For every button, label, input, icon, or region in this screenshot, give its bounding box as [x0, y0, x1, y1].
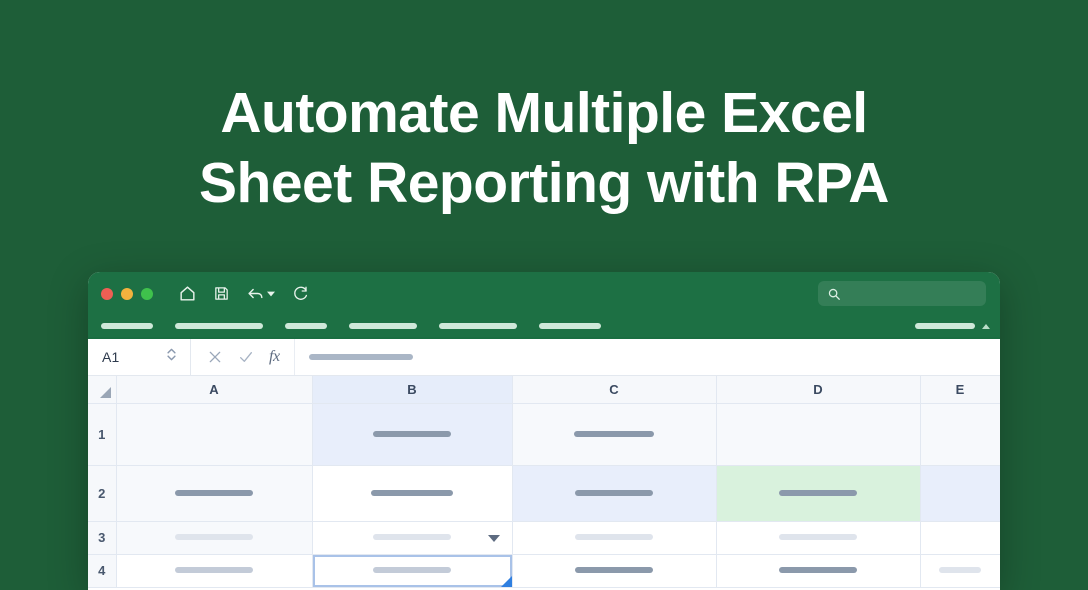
- cell-b1[interactable]: [312, 403, 512, 465]
- spreadsheet-window: A1 fx: [88, 272, 1000, 590]
- window-titlebar: [88, 272, 1000, 315]
- dropdown-caret-icon[interactable]: [488, 535, 500, 542]
- cell-a1[interactable]: [116, 403, 312, 465]
- function-icon[interactable]: fx: [269, 348, 280, 366]
- row-header-3[interactable]: 3: [88, 521, 116, 554]
- fill-handle[interactable]: [501, 576, 512, 587]
- cell-a2[interactable]: [116, 465, 312, 521]
- maximize-button[interactable]: [141, 288, 153, 300]
- row-header-4[interactable]: 4: [88, 554, 116, 587]
- redo-icon[interactable]: [291, 285, 309, 303]
- formula-actions: fx: [191, 339, 295, 375]
- cell-e2[interactable]: [920, 465, 1000, 521]
- window-controls: [101, 288, 153, 300]
- cell-c4[interactable]: [512, 554, 716, 587]
- cell-c3[interactable]: [512, 521, 716, 554]
- column-header-a[interactable]: A: [116, 376, 312, 403]
- grid-body: 1 2 3: [88, 403, 1000, 587]
- ribbon-tab-1[interactable]: [101, 323, 153, 329]
- ribbon-tab-6[interactable]: [539, 323, 601, 329]
- cell-c2[interactable]: [512, 465, 716, 521]
- minimize-button[interactable]: [121, 288, 133, 300]
- column-header-c[interactable]: C: [512, 376, 716, 403]
- formula-placeholder-bar: [309, 354, 413, 360]
- cell-d4[interactable]: [716, 554, 920, 587]
- table-row: 1: [88, 403, 1000, 465]
- cancel-x-icon[interactable]: [207, 349, 223, 365]
- hero-title-line-2: Sheet Reporting with RPA: [0, 148, 1088, 218]
- search-icon: [827, 287, 841, 301]
- cell-content-bar: [939, 567, 981, 573]
- quick-access-toolbar: [178, 284, 309, 303]
- formula-input[interactable]: [295, 339, 1000, 375]
- home-icon[interactable]: [178, 284, 197, 303]
- table-row: 4: [88, 554, 1000, 587]
- column-header-row: A B C D E: [88, 376, 1000, 403]
- save-icon[interactable]: [213, 285, 230, 302]
- row-header-2[interactable]: 2: [88, 465, 116, 521]
- cell-c1[interactable]: [512, 403, 716, 465]
- ribbon-menu-bar: [88, 315, 1000, 339]
- undo-button[interactable]: [246, 284, 275, 303]
- ribbon-right-group: [915, 323, 990, 329]
- caret-up-icon[interactable]: [982, 324, 990, 329]
- cell-content-bar: [175, 490, 253, 496]
- ribbon-tab-3[interactable]: [285, 323, 327, 329]
- cell-content-bar: [373, 567, 451, 573]
- select-all-button[interactable]: [88, 376, 116, 403]
- hero-title: Automate Multiple Excel Sheet Reporting …: [0, 0, 1088, 218]
- cell-content-bar: [575, 567, 653, 573]
- cell-a4[interactable]: [116, 554, 312, 587]
- cell-d1[interactable]: [716, 403, 920, 465]
- stepper-updown-icon[interactable]: [166, 346, 177, 368]
- cell-e1[interactable]: [920, 403, 1000, 465]
- cell-content-bar: [779, 567, 857, 573]
- chevron-down-icon[interactable]: [267, 290, 275, 298]
- spreadsheet-grid: A B C D E 1 2: [88, 376, 1000, 588]
- cell-content-bar: [175, 534, 253, 540]
- ribbon-tab-4[interactable]: [349, 323, 417, 329]
- ribbon-tab-2[interactable]: [175, 323, 263, 329]
- search-input[interactable]: [818, 281, 986, 306]
- cell-b4[interactable]: [312, 554, 512, 587]
- table-row: 2: [88, 465, 1000, 521]
- formula-bar: A1 fx: [88, 339, 1000, 376]
- cell-e3[interactable]: [920, 521, 1000, 554]
- cell-content-bar: [373, 431, 451, 437]
- accept-check-icon[interactable]: [238, 349, 254, 365]
- cell-e4[interactable]: [920, 554, 1000, 587]
- cell-content-bar: [779, 490, 857, 496]
- cell-content-bar: [175, 567, 253, 573]
- undo-icon[interactable]: [246, 284, 265, 303]
- name-box[interactable]: A1: [88, 339, 191, 375]
- select-all-triangle-icon: [100, 387, 111, 398]
- close-button[interactable]: [101, 288, 113, 300]
- cell-b2[interactable]: [312, 465, 512, 521]
- cell-d2[interactable]: [716, 465, 920, 521]
- ribbon-tab-7[interactable]: [915, 323, 975, 329]
- cell-content-bar: [371, 490, 453, 496]
- hero-title-line-1: Automate Multiple Excel: [0, 78, 1088, 148]
- name-box-value: A1: [102, 349, 120, 365]
- cell-d3[interactable]: [716, 521, 920, 554]
- cell-content-bar: [779, 534, 857, 540]
- cell-b3[interactable]: [312, 521, 512, 554]
- cell-content-bar: [373, 534, 451, 540]
- ribbon-tab-5[interactable]: [439, 323, 517, 329]
- cell-a3[interactable]: [116, 521, 312, 554]
- column-header-b[interactable]: B: [312, 376, 512, 403]
- column-header-d[interactable]: D: [716, 376, 920, 403]
- table-row: 3: [88, 521, 1000, 554]
- cell-content-bar: [575, 534, 653, 540]
- column-header-e[interactable]: E: [920, 376, 1000, 403]
- cell-content-bar: [575, 490, 653, 496]
- row-header-1[interactable]: 1: [88, 403, 116, 465]
- cell-content-bar: [574, 431, 654, 437]
